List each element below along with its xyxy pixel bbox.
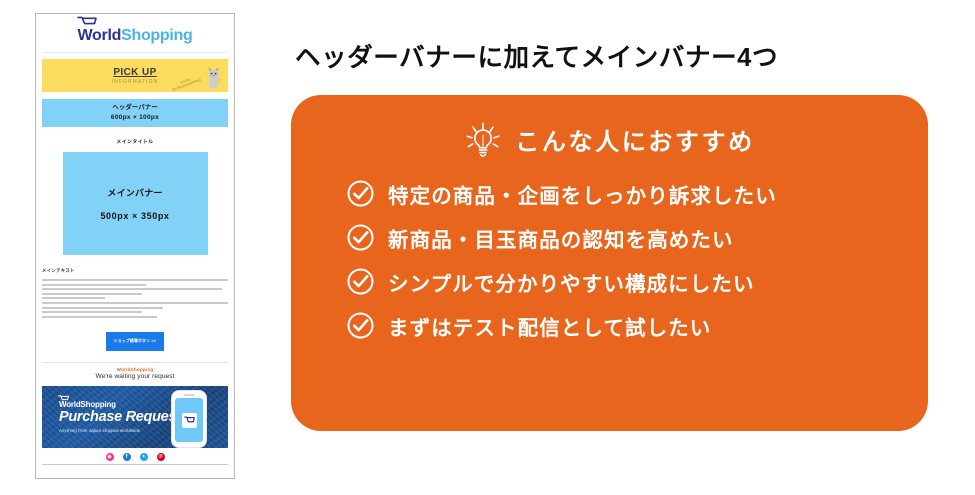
check-circle-icon bbox=[347, 180, 374, 207]
check-circle-icon bbox=[347, 224, 374, 251]
email-mockup-content: World Shopping PICK UP INFORMATION FROM … bbox=[42, 19, 228, 473]
recommendation-item: シンプルで分かりやすい構成にしたい bbox=[347, 267, 928, 297]
recommendation-item-label: 新商品・目玉商品の認知を高めたい bbox=[388, 223, 734, 253]
main-banner-size: 500px × 350px bbox=[100, 211, 169, 221]
email-mockup-frame: World Shopping PICK UP INFORMATION FROM … bbox=[35, 13, 235, 479]
card-title: こんな人におすすめ bbox=[515, 122, 754, 157]
footer-waiting-text: We're waiting your request bbox=[42, 373, 228, 380]
mockup-divider bbox=[42, 362, 228, 363]
shopping-cart-icon bbox=[58, 395, 69, 402]
shop-cta-button[interactable]: ショップ誘導ボタン >> bbox=[106, 332, 164, 351]
purchase-request-banner[interactable]: WorldShopping Purchase Request Anything … bbox=[42, 386, 228, 448]
pickup-subtitle: INFORMATION bbox=[112, 79, 159, 85]
footer-brand: WorldShopping bbox=[42, 367, 228, 372]
shop-cta-label: ショップ誘導ボタン >> bbox=[114, 338, 156, 344]
phone-screen bbox=[175, 398, 203, 442]
body-text-line bbox=[42, 297, 105, 299]
app-icon bbox=[182, 413, 197, 428]
header-banner-placeholder: ヘッダーバナー 600px × 100px bbox=[42, 99, 228, 127]
recommendation-card: こんな人におすすめ 特定の商品・企画をしっかり訴求したい新商品・目玉商品の認知を… bbox=[291, 95, 928, 431]
body-text-line bbox=[42, 284, 146, 286]
recommendation-item-label: まずはテスト配信として試したい bbox=[388, 311, 711, 341]
body-text-line bbox=[42, 279, 228, 281]
cat-mascot-icon bbox=[206, 66, 223, 90]
banner-text-group: WorldShopping Purchase Request Anything … bbox=[59, 400, 181, 433]
header-banner-label: ヘッダーバナー bbox=[112, 103, 157, 113]
worldshopping-logo: World Shopping bbox=[78, 27, 193, 45]
body-text-line bbox=[42, 302, 228, 304]
phone-mockup-icon bbox=[172, 391, 206, 447]
recommendation-item-label: シンプルで分かりやすい構成にしたい bbox=[388, 267, 755, 297]
main-text-label: メインテキスト bbox=[42, 268, 228, 274]
banner-brand: WorldShopping bbox=[59, 400, 181, 409]
lightbulb-icon bbox=[464, 121, 502, 159]
page-title: ヘッダーバナーに加えてメインバナー4つ bbox=[295, 43, 941, 74]
body-text-line bbox=[42, 311, 142, 313]
facebook-icon[interactable]: f bbox=[123, 453, 131, 461]
banner-subtitle: Anything from Japan shipped worldwide bbox=[59, 428, 181, 433]
instagram-icon[interactable]: ◉ bbox=[106, 453, 114, 461]
recommendation-item: まずはテスト配信として試したい bbox=[347, 311, 928, 341]
body-text-line bbox=[42, 307, 163, 309]
logo-text-world: World bbox=[78, 27, 122, 45]
header-banner-size: 600px × 100px bbox=[111, 113, 159, 123]
pickup-handwriting: FROM WORLDSHOPPING bbox=[171, 74, 203, 92]
mockup-logo-row: World Shopping bbox=[42, 19, 228, 53]
right-column: ヘッダーバナーに加えてメインバナー4つ こんな人におすすめ bbox=[291, 13, 941, 431]
shopping-cart-icon bbox=[184, 416, 195, 425]
card-header: こんな人におすすめ bbox=[291, 95, 928, 159]
recommendation-item: 新商品・目玉商品の認知を高めたい bbox=[347, 223, 928, 253]
body-text-line bbox=[42, 293, 142, 295]
main-banner-placeholder: メインバナー 500px × 350px bbox=[63, 152, 208, 255]
pickup-title: PICK UP bbox=[113, 67, 156, 78]
recommendation-item: 特定の商品・企画をしっかり訴求したい bbox=[347, 179, 928, 209]
body-text-lines bbox=[42, 279, 228, 318]
pinterest-icon[interactable]: ℗ bbox=[157, 453, 165, 461]
main-banner-label: メインバナー bbox=[107, 186, 162, 199]
banner-headline: Purchase Request bbox=[59, 410, 181, 425]
check-circle-icon bbox=[347, 268, 374, 295]
pickup-bar: PICK UP INFORMATION FROM WORLDSHOPPING bbox=[42, 59, 228, 92]
main-title-label: メインタイトル bbox=[42, 138, 228, 145]
check-circle-icon bbox=[347, 312, 374, 339]
social-links-row: ◉f✦℗ bbox=[42, 453, 228, 465]
phone-notch bbox=[184, 394, 195, 396]
shopping-cart-icon bbox=[77, 16, 97, 28]
recommendation-list: 特定の商品・企画をしっかり訴求したい新商品・目玉商品の認知を高めたいシンプルで分… bbox=[347, 179, 928, 341]
logo-text-shopping: Shopping bbox=[121, 27, 192, 45]
twitter-icon[interactable]: ✦ bbox=[140, 453, 148, 461]
body-text-line bbox=[42, 288, 222, 290]
body-text-line bbox=[42, 316, 157, 318]
recommendation-item-label: 特定の商品・企画をしっかり訴求したい bbox=[388, 179, 777, 209]
